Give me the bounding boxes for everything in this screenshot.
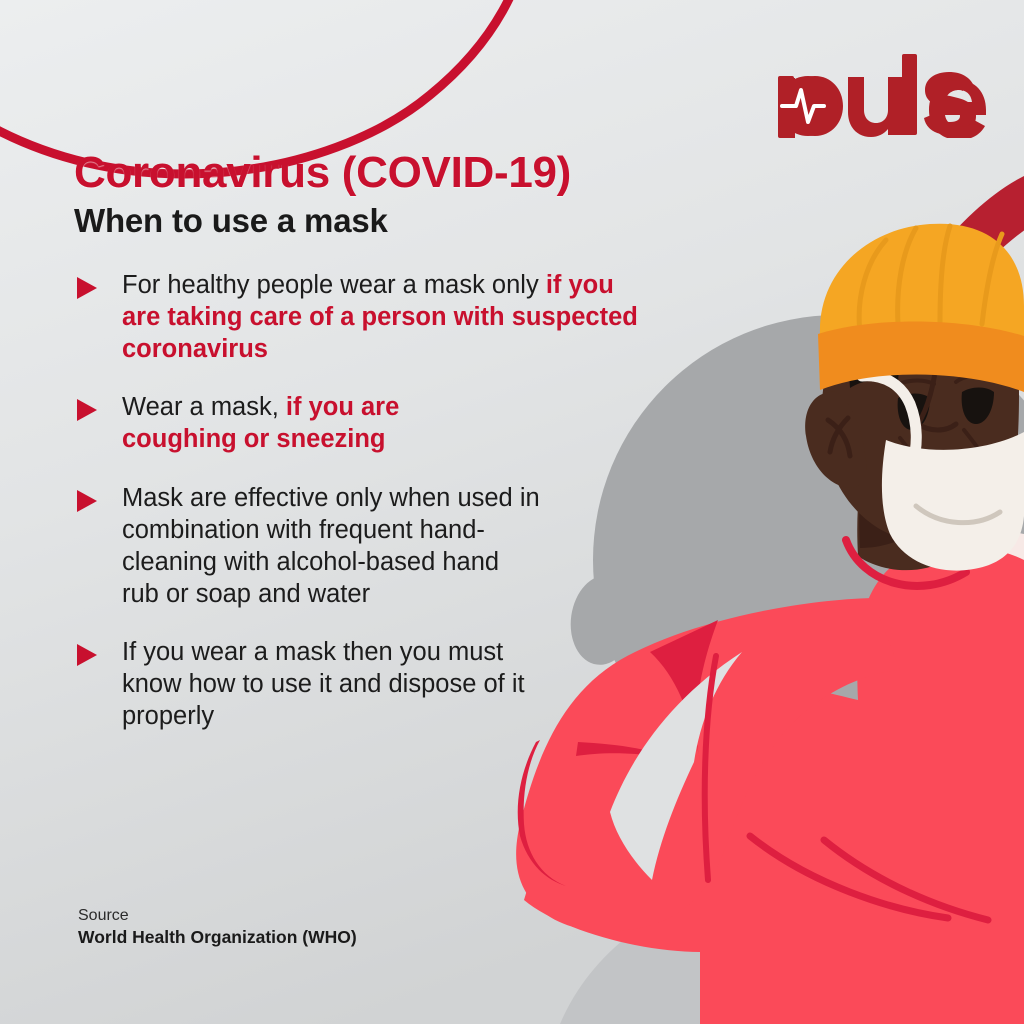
page-title: Coronavirus (COVID-19) [74,150,694,197]
list-item: For healthy people wear a mask only if y… [74,269,694,365]
list-item-plain: Wear a mask, [122,393,286,421]
source-label: Source [78,906,357,926]
list-item-text: Mask are effective only when used in com… [122,482,542,611]
source-block: Source World Health Organization (WHO) [78,906,357,949]
list-item: Mask are effective only when used in com… [74,482,694,611]
list-item: Wear a mask, if you are coughing or snee… [74,391,694,455]
list-item-plain: Mask are effective only when used in com… [122,484,540,608]
infographic-poster: Coronavirus (COVID-19) When to use a mas… [0,0,1024,1024]
list-item-text: Wear a mask, if you are coughing or snee… [122,391,482,455]
logo-letter-u [848,77,904,137]
list-item-text: If you wear a mask then you must know ho… [122,636,532,732]
list-item: If you wear a mask then you must know ho… [74,636,694,732]
red-triangle-bullet-icon [74,488,100,514]
red-triangle-bullet-icon [74,275,100,301]
logo-letter-e [929,80,986,138]
red-triangle-bullet-icon [74,642,100,668]
text-content: Coronavirus (COVID-19) When to use a mas… [74,150,694,758]
source-name: World Health Organization (WHO) [78,926,357,949]
list-item-plain: For healthy people wear a mask only [122,271,546,299]
page-subtitle: When to use a mask [74,203,694,239]
face-mask [882,432,1024,571]
list-item-plain: If you wear a mask then you must know ho… [122,638,525,730]
red-triangle-bullet-icon [74,397,100,423]
bullet-list: For healthy people wear a mask only if y… [74,269,694,733]
logo-letter-l [902,54,917,135]
list-item-text: For healthy people wear a mask only if y… [122,269,652,365]
pulse-logo [776,52,986,138]
